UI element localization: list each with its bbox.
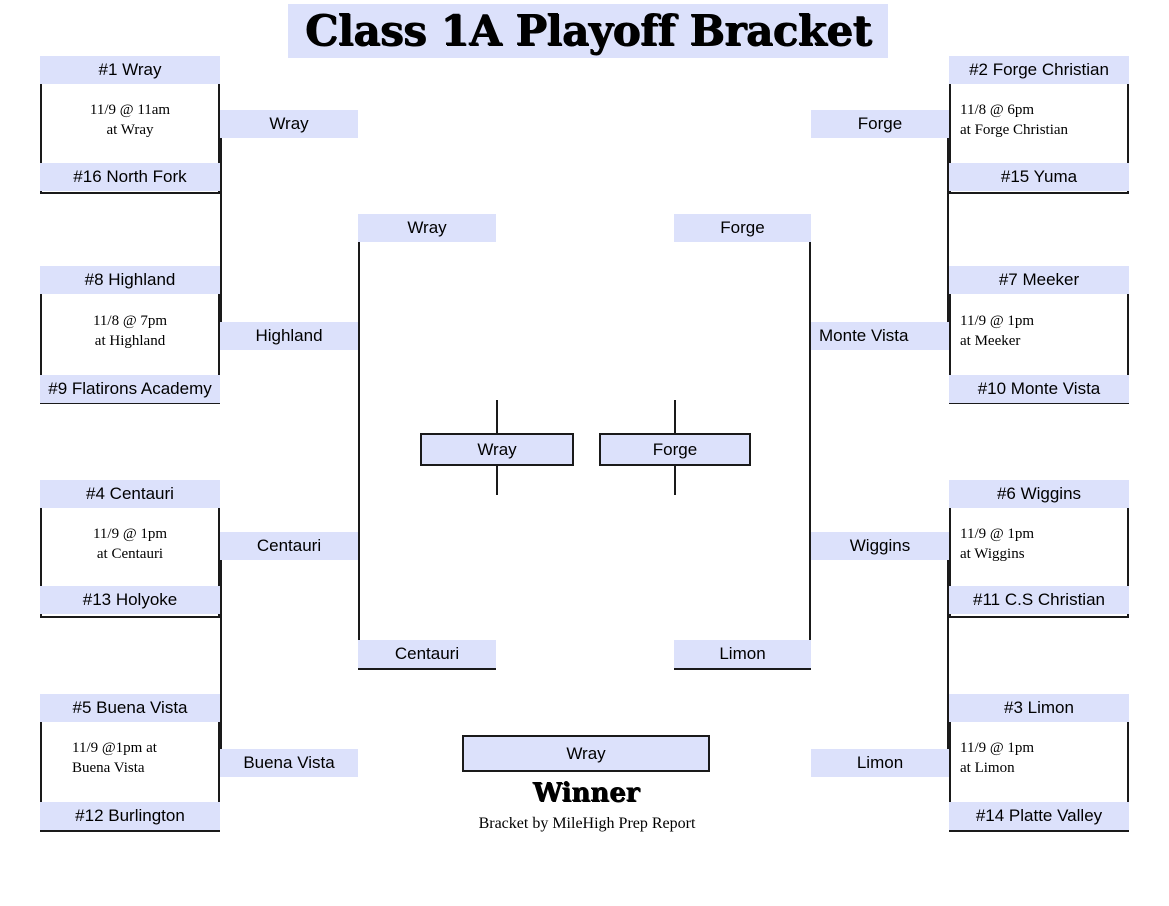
- right-game-1-info: 11/8 @ 6pm at Forge Christian: [960, 100, 1140, 141]
- left-game-4-bottom-seed: #12 Burlington: [40, 802, 220, 830]
- left-round3-winner-top: Wray: [358, 214, 496, 242]
- right-semifinal-line-top: [674, 400, 676, 434]
- left-game-2-bottom-seed: #9 Flatirons Academy: [40, 375, 220, 403]
- left-game-2-top-seed: #8 Highland: [40, 266, 220, 294]
- right-round3-winner-bottom: Limon: [674, 640, 811, 668]
- right-game-1-top-seed: #2 Forge Christian: [949, 56, 1129, 84]
- right-game-4-bottom-seed: #14 Platte Valley: [949, 802, 1129, 830]
- right-semifinal-line-bottom: [674, 465, 676, 495]
- left-game-3-top-seed: #4 Centauri: [40, 480, 220, 508]
- winner-label: Winner: [462, 778, 710, 808]
- right-game-3-bottom-seed: #11 C.S Christian: [949, 586, 1129, 614]
- right-game-2-bottom-seed: #10 Monte Vista: [949, 375, 1129, 403]
- champion-box: Wray: [462, 735, 710, 772]
- left-round2-winner-top: Wray: [220, 110, 358, 138]
- left-game-1-top-seed: #1 Wray: [40, 56, 220, 84]
- right-round3-winner-top: Forge: [674, 214, 811, 242]
- right-game-4-info: 11/9 @ 1pm at Limon: [960, 738, 1140, 779]
- right-round2-arm-top: [811, 136, 949, 348]
- right-semifinal-box: Forge: [599, 433, 751, 466]
- right-round2-winner-top-2: Wiggins: [811, 532, 949, 560]
- left-game-4-top-seed: #5 Buena Vista: [40, 694, 220, 722]
- left-round2-winner-top-2: Centauri: [220, 532, 358, 560]
- left-round2-winner-bottom: Highland: [220, 322, 358, 350]
- right-round2-arm-bottom: [811, 558, 949, 772]
- right-game-2-top-seed: #7 Meeker: [949, 266, 1129, 294]
- left-round2-arm-top: [220, 136, 358, 348]
- left-semifinal-box: Wray: [420, 433, 574, 466]
- right-round2-winner-bottom: Monte Vista: [811, 322, 949, 350]
- left-round2-winner-bottom-2: Buena Vista: [220, 749, 358, 777]
- left-round3-winner-bottom: Centauri: [358, 640, 496, 668]
- left-game-4-info: 11/9 @1pm at Buena Vista: [72, 738, 232, 779]
- left-semifinal-line-top: [496, 400, 498, 434]
- bracket-credit: Bracket by MileHigh Prep Report: [437, 815, 737, 833]
- right-game-3-top-seed: #6 Wiggins: [949, 480, 1129, 508]
- left-round2-arm-bottom: [220, 558, 358, 772]
- bracket-canvas: Class 1A Playoff Bracket #1 Wray 11/9 @ …: [0, 0, 1169, 906]
- left-game-1-bottom-seed: #16 North Fork: [40, 163, 220, 191]
- right-round2-winner-top: Forge: [811, 110, 949, 138]
- right-game-3-info: 11/9 @ 1pm at Wiggins: [960, 524, 1140, 565]
- left-semifinal-line-bottom: [496, 465, 498, 495]
- left-game-3-bottom-seed: #13 Holyoke: [40, 586, 220, 614]
- left-game-3-info: 11/9 @ 1pm at Centauri: [40, 524, 220, 565]
- right-game-4-top-seed: #3 Limon: [949, 694, 1129, 722]
- right-round2-winner-bottom-2: Limon: [811, 749, 949, 777]
- left-game-2-info: 11/8 @ 7pm at Highland: [40, 311, 220, 352]
- left-game-1-info: 11/9 @ 11am at Wray: [40, 100, 220, 141]
- right-game-1-bottom-seed: #15 Yuma: [949, 163, 1129, 191]
- page-title: Class 1A Playoff Bracket: [288, 2, 888, 58]
- right-game-2-info: 11/9 @ 1pm at Meeker: [960, 311, 1140, 352]
